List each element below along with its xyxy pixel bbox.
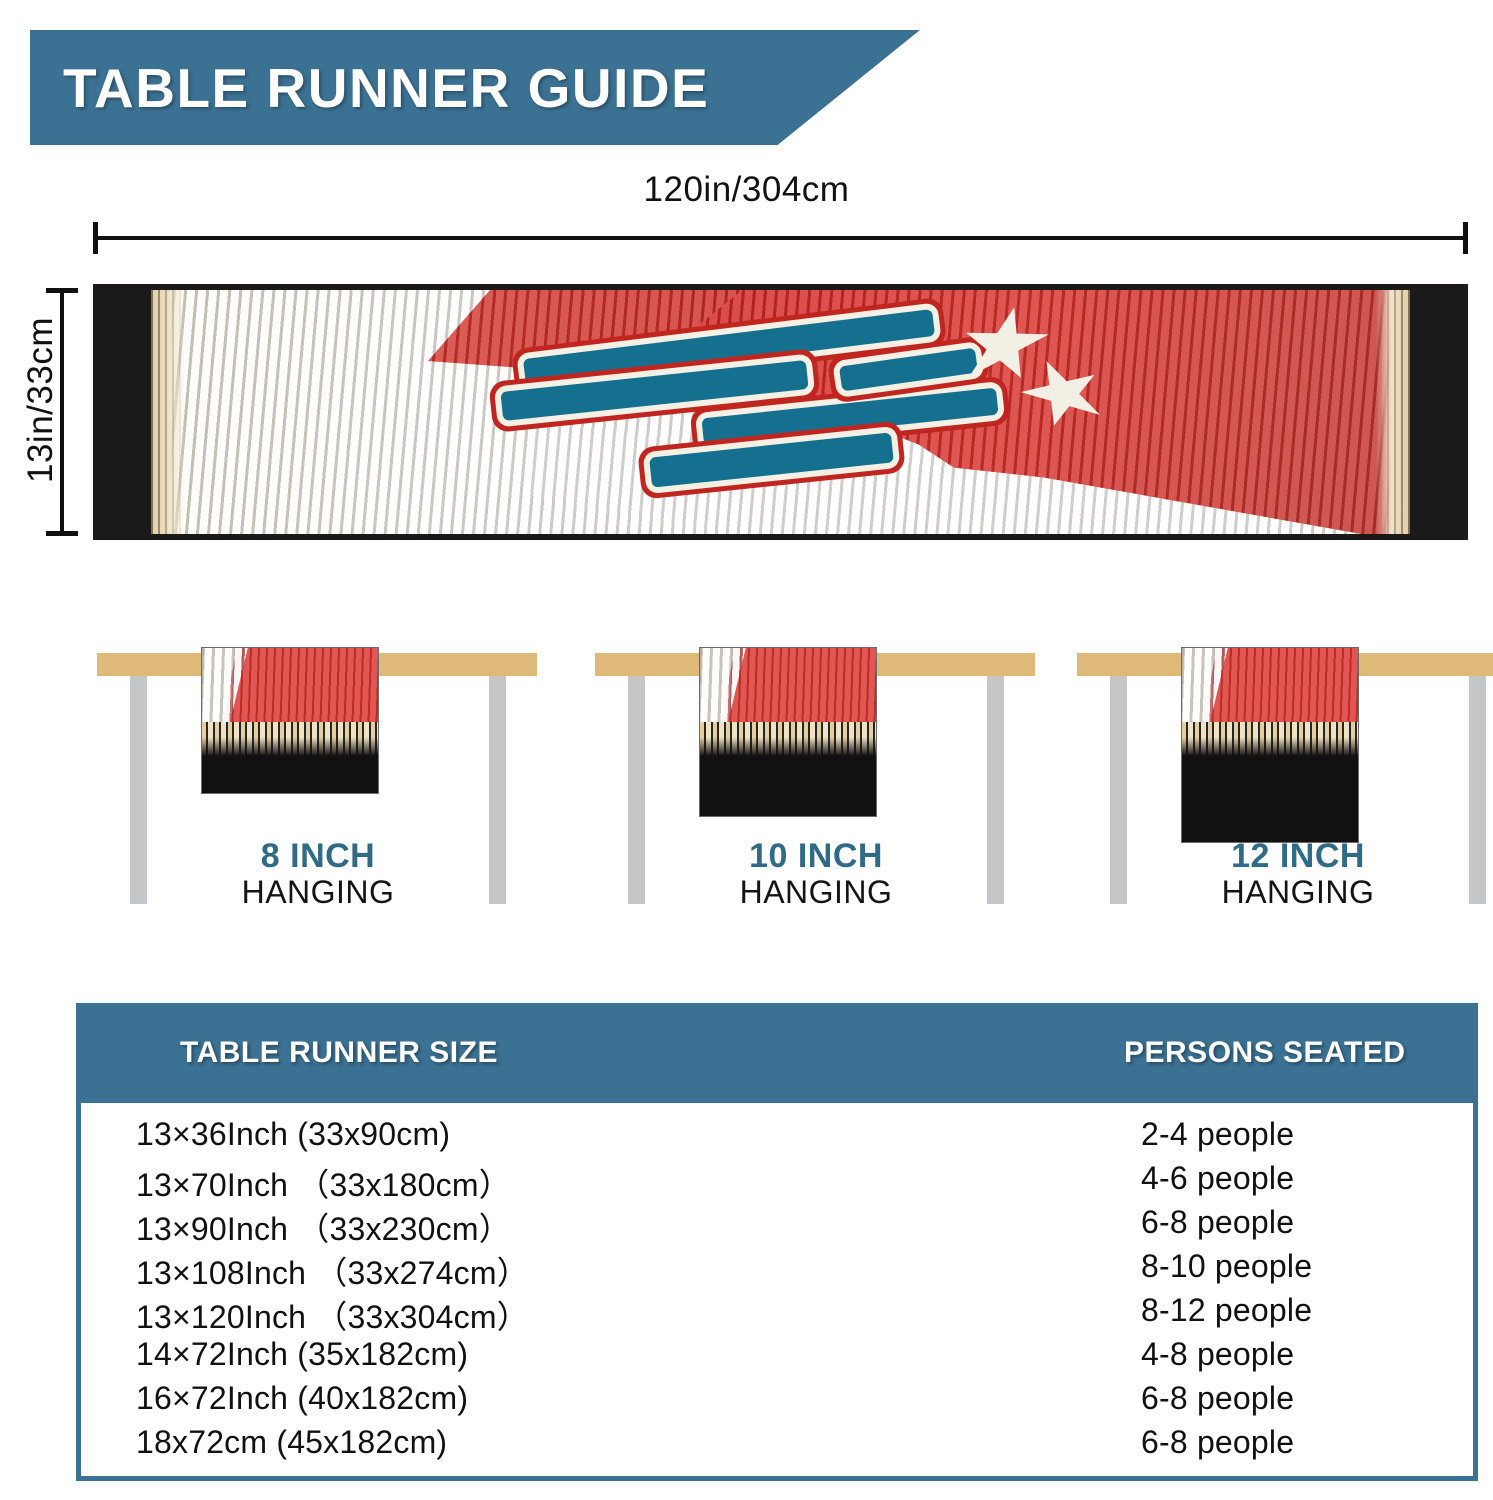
cell-runner-size: 18x72cm (45x182cm) [136, 1424, 447, 1461]
hanging-diagram-8-inch: 8 INCH HANGING [85, 625, 551, 925]
cell-runner-size: 14×72Inch (35x182cm) [136, 1336, 468, 1373]
diagram-caption: 12 INCH HANGING [1065, 837, 1493, 911]
size-table-header-row: TABLE RUNNER SIZE PERSONS SEATED [76, 1003, 1478, 1103]
table-row: 13×108Inch （33x274cm） 8-10 people [81, 1248, 1473, 1292]
hanging-diagram-10-inch: 10 INCH HANGING [583, 625, 1049, 925]
cell-runner-size: 13×90Inch （33x230cm） [136, 1204, 511, 1250]
height-dimension-label: 13in/33cm [21, 285, 61, 515]
cell-runner-size: 13×120Inch （33x304cm） [136, 1292, 529, 1338]
hanging-length-label: 10 INCH [583, 837, 1049, 875]
table-runner-product-image [93, 284, 1468, 540]
column-header-size: TABLE RUNNER SIZE [180, 1036, 498, 1070]
cell-runner-size: 16×72Inch (40x182cm) [136, 1380, 468, 1417]
cell-persons-seated: 8-10 people [1141, 1248, 1312, 1285]
runner-artwork [151, 290, 1410, 534]
cell-runner-size: 13×36Inch (33x90cm) [136, 1116, 450, 1153]
runner-distressed-right-edge [1376, 290, 1410, 534]
draped-runner-frayed-edge [700, 722, 876, 756]
runner-script-lettering [491, 319, 1020, 509]
hanging-length-label: 8 INCH [85, 837, 551, 875]
size-table-panel: TABLE RUNNER SIZE PERSONS SEATED 13×36In… [76, 1003, 1478, 1481]
table-row: 18x72cm (45x182cm) 6-8 people [81, 1424, 1473, 1468]
diagram-caption: 10 INCH HANGING [583, 837, 1049, 911]
cell-persons-seated: 6-8 people [1141, 1380, 1294, 1417]
width-dimension-label: 120in/304cm [0, 170, 1493, 210]
cell-runner-size: 13×108Inch （33x274cm） [136, 1248, 529, 1294]
cell-persons-seated: 8-12 people [1141, 1292, 1312, 1329]
height-dimension-line [60, 288, 64, 536]
runner-distressed-left-edge [151, 290, 185, 534]
hanging-word-label: HANGING [583, 875, 1049, 911]
draped-runner [201, 647, 379, 794]
table-row: 16×72Inch (40x182cm) 6-8 people [81, 1380, 1473, 1424]
column-header-persons: PERSONS SEATED [1124, 1036, 1406, 1070]
header-banner: TABLE RUNNER GUIDE [30, 30, 920, 145]
hanging-word-label: HANGING [1065, 875, 1493, 911]
cell-persons-seated: 4-8 people [1141, 1336, 1294, 1373]
table-row: 14×72Inch (35x182cm) 4-8 people [81, 1336, 1473, 1380]
cell-runner-size: 13×70Inch （33x180cm） [136, 1160, 511, 1206]
table-row: 13×70Inch （33x180cm） 4-6 people [81, 1160, 1473, 1204]
diagram-caption: 8 INCH HANGING [85, 837, 551, 911]
cell-persons-seated: 6-8 people [1141, 1424, 1294, 1461]
table-row: 13×120Inch （33x304cm） 8-12 people [81, 1292, 1473, 1336]
hanging-diagram-12-inch: 12 INCH HANGING [1065, 625, 1493, 925]
table-row: 13×90Inch （33x230cm） 6-8 people [81, 1204, 1473, 1248]
width-dimension-line [93, 236, 1468, 240]
size-table-body: 13×36Inch (33x90cm) 2-4 people 13×70Inch… [81, 1116, 1473, 1476]
draped-runner-frayed-edge [202, 722, 378, 756]
table-row: 13×36Inch (33x90cm) 2-4 people [81, 1116, 1473, 1160]
cell-persons-seated: 2-4 people [1141, 1116, 1294, 1153]
draped-runner-frayed-edge [1182, 722, 1358, 756]
cell-persons-seated: 6-8 people [1141, 1204, 1294, 1241]
cell-persons-seated: 4-6 people [1141, 1160, 1294, 1197]
draped-runner [1181, 647, 1359, 843]
page-title: TABLE RUNNER GUIDE [30, 56, 709, 120]
hanging-word-label: HANGING [85, 875, 551, 911]
draped-runner [699, 647, 877, 817]
